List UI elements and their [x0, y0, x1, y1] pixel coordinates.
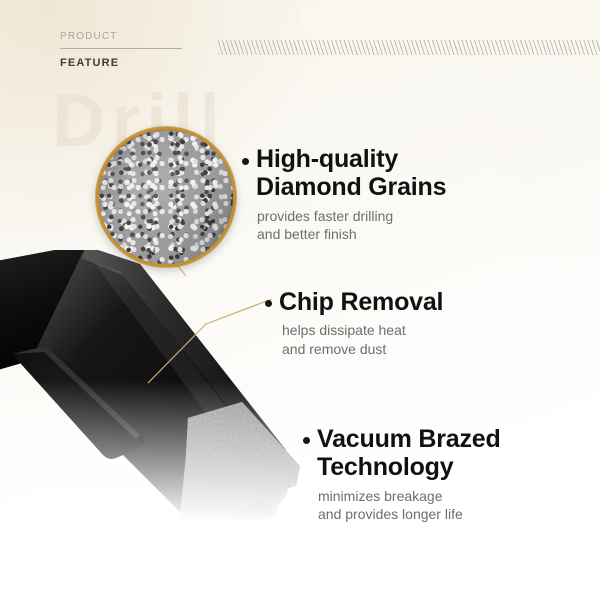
background-bottom-fade	[0, 380, 600, 600]
feature-bullet-1	[242, 158, 249, 165]
diamond-grain-magnifier	[96, 127, 236, 267]
feature-bullet-2	[265, 300, 272, 307]
feature-title-2: Chip Removal	[279, 288, 443, 316]
feature-subtitle-2: helps dissipate heat and remove dust	[282, 321, 443, 358]
feature-subtitle-1: provides faster drilling and better fini…	[257, 207, 446, 244]
feature-subtitle-3: minimizes breakage and provides longer l…	[318, 487, 501, 524]
header-divider	[60, 48, 182, 49]
feature-callout-3: Vacuum Brazed Technology minimizes break…	[317, 425, 501, 523]
magnifier-shading	[99, 130, 233, 264]
feature-title-1: High-quality Diamond Grains	[256, 145, 446, 202]
feature-callout-2: Chip Removal helps dissipate heat and re…	[279, 288, 443, 358]
feature-bullet-3	[303, 437, 310, 444]
header-hatch-pattern	[218, 40, 600, 55]
header-block: PRODUCT FEATURE	[60, 31, 185, 69]
header-product-label: PRODUCT	[60, 31, 185, 42]
product-feature-infographic: Drill PRODUCT FEATURE	[0, 0, 600, 600]
feature-title-3: Vacuum Brazed Technology	[317, 425, 501, 482]
feature-callout-1: High-quality Diamond Grains provides fas…	[256, 145, 446, 243]
header-feature-label: FEATURE	[60, 57, 185, 69]
